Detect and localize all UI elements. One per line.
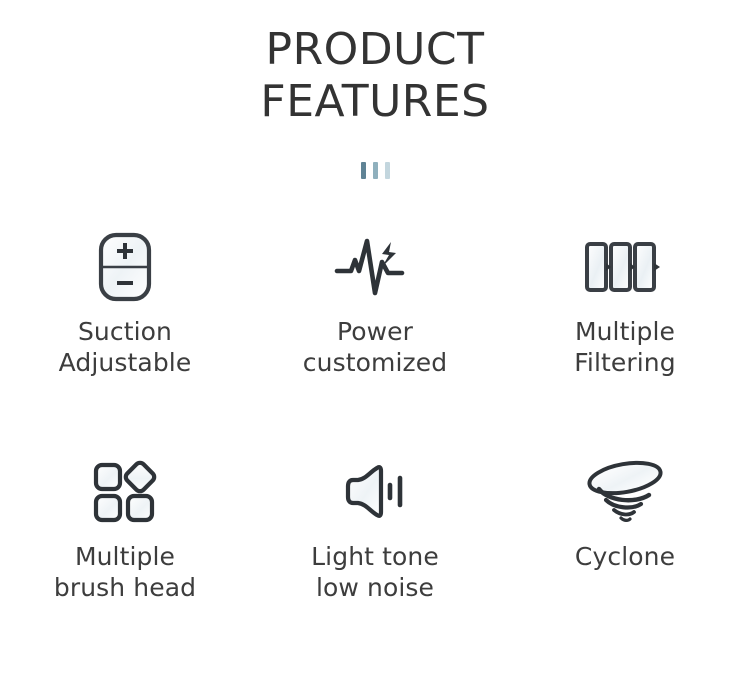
feature-label-suction-adjustable: Suction Adjustable — [59, 316, 192, 378]
feature-label-line-1: Multiple — [54, 541, 196, 572]
page-title: PRODUCT FEATURES — [0, 24, 750, 128]
feature-label-line-1: Multiple — [574, 316, 675, 347]
feature-item-suction-adjustable: Suction Adjustable — [0, 228, 250, 393]
divider-bar-2 — [373, 162, 378, 179]
multiple-filtering-icon — [583, 228, 667, 306]
feature-item-power-customized: Power customized — [250, 228, 500, 393]
feature-item-cyclone: Cyclone — [500, 453, 750, 618]
feature-label-light-tone-low-noise: Light tone low noise — [311, 541, 439, 603]
suction-adjustable-icon — [96, 228, 154, 306]
divider-bar-3 — [385, 162, 390, 179]
page-title-line-2: FEATURES — [0, 76, 750, 128]
feature-label-line-2: customized — [303, 347, 447, 378]
feature-item-multiple-filtering: Multiple Filtering — [500, 228, 750, 393]
feature-label-line-1: Light tone — [311, 541, 439, 572]
feature-item-light-tone-low-noise: Light tone low noise — [250, 453, 500, 618]
feature-label-multiple-filtering: Multiple Filtering — [574, 316, 675, 378]
title-divider — [0, 162, 750, 179]
feature-label-line-2: Adjustable — [59, 347, 192, 378]
feature-label-power-customized: Power customized — [303, 316, 447, 378]
feature-label-line-2: low noise — [311, 572, 439, 603]
low-noise-speaker-icon — [344, 453, 406, 531]
feature-item-multiple-brush-head: Multiple brush head — [0, 453, 250, 618]
feature-label-line-1: Power — [303, 316, 447, 347]
feature-grid: Suction Adjustable Power customized — [0, 228, 750, 618]
multiple-brush-head-icon — [92, 453, 158, 531]
feature-label-line-1: Suction — [59, 316, 192, 347]
feature-label-cyclone: Cyclone — [575, 541, 675, 572]
page-title-line-1: PRODUCT — [0, 24, 750, 76]
feature-label-line-2: Filtering — [574, 347, 675, 378]
product-features-page: PRODUCT FEATURES — [0, 0, 750, 684]
power-pulse-icon — [334, 228, 416, 306]
page-header: PRODUCT FEATURES — [0, 24, 750, 128]
cyclone-icon — [583, 453, 667, 531]
divider-bar-1 — [361, 162, 366, 179]
feature-label-multiple-brush-head: Multiple brush head — [54, 541, 196, 603]
feature-label-line-1: Cyclone — [575, 541, 675, 572]
feature-label-line-2: brush head — [54, 572, 196, 603]
